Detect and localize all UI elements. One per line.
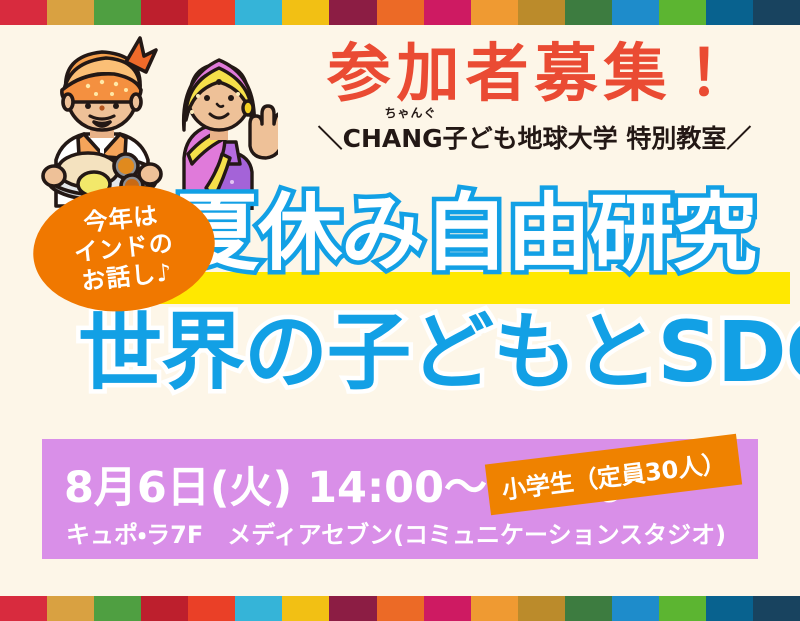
sdg-color-swatch-5 — [188, 596, 235, 621]
sdg-color-swatch-11 — [471, 0, 518, 25]
sdg-color-swatch-13 — [565, 0, 612, 25]
headline-main: 参加者募集！ — [282, 42, 787, 106]
sdg-color-swatch-1 — [0, 0, 47, 25]
indian-man-illustration — [22, 28, 177, 208]
event-poster: 参加者募集！ ちゃんぐ ＼CHANG子ども地球大学 特別教室／ 夏休み自由研究 … — [0, 0, 800, 621]
sdg-color-swatch-14 — [612, 596, 659, 621]
title-line-2: 世界の子どもとSDGs — [78, 310, 800, 394]
sdg-color-swatch-7 — [282, 596, 329, 621]
sdg-color-swatch-9 — [377, 596, 424, 621]
sdg-color-swatch-16 — [706, 596, 753, 621]
sdg-color-swatch-5 — [188, 0, 235, 25]
sdg-color-swatch-3 — [94, 0, 141, 25]
sdg-color-swatch-6 — [235, 596, 282, 621]
sdg-color-swatch-2 — [47, 596, 94, 621]
sdg-color-swatch-13 — [565, 596, 612, 621]
sdg-color-swatch-1 — [0, 596, 47, 621]
sdg-color-swatch-11 — [471, 596, 518, 621]
sdg-color-swatch-14 — [612, 0, 659, 25]
sdg-color-swatch-2 — [47, 0, 94, 25]
sdg-color-swatch-4 — [141, 0, 188, 25]
sdg-color-swatch-10 — [424, 0, 471, 25]
sdg-color-swatch-7 — [282, 0, 329, 25]
sdg-color-band-top — [0, 0, 800, 25]
sdg-color-swatch-6 — [235, 0, 282, 25]
sdg-color-swatch-15 — [659, 596, 706, 621]
event-info-panel: 8月6日(火) 14:00〜17:00 キュポ・ラ7F メディアセブン(コミュニ… — [42, 439, 758, 559]
sdg-color-swatch-12 — [518, 596, 565, 621]
sdg-color-swatch-8 — [329, 0, 376, 25]
sdg-color-swatch-15 — [659, 0, 706, 25]
headline-subtitle: ＼CHANG子ども地球大学 特別教室／ — [318, 124, 752, 153]
title-line-1: 夏休み自由研究 — [175, 191, 756, 275]
sdg-color-swatch-17 — [753, 0, 800, 25]
sdg-color-swatch-4 — [141, 596, 188, 621]
headline-block: 参加者募集！ ちゃんぐ ＼CHANG子ども地球大学 特別教室／ — [282, 42, 787, 155]
sdg-color-swatch-10 — [424, 596, 471, 621]
sdg-color-swatch-17 — [753, 596, 800, 621]
sdg-color-swatch-9 — [377, 0, 424, 25]
sdg-color-swatch-8 — [329, 596, 376, 621]
sdg-color-swatch-16 — [706, 0, 753, 25]
event-venue: キュポ・ラ7F メディアセブン(コミュニケーションスタジオ) — [66, 515, 726, 550]
headline-subtitle-row: ちゃんぐ ＼CHANG子ども地球大学 特別教室／ — [282, 119, 787, 155]
sdg-color-swatch-3 — [94, 596, 141, 621]
sdg-color-band-bottom — [0, 596, 800, 621]
sdg-color-swatch-12 — [518, 0, 565, 25]
furigana-chang: ちゃんぐ — [385, 104, 437, 121]
